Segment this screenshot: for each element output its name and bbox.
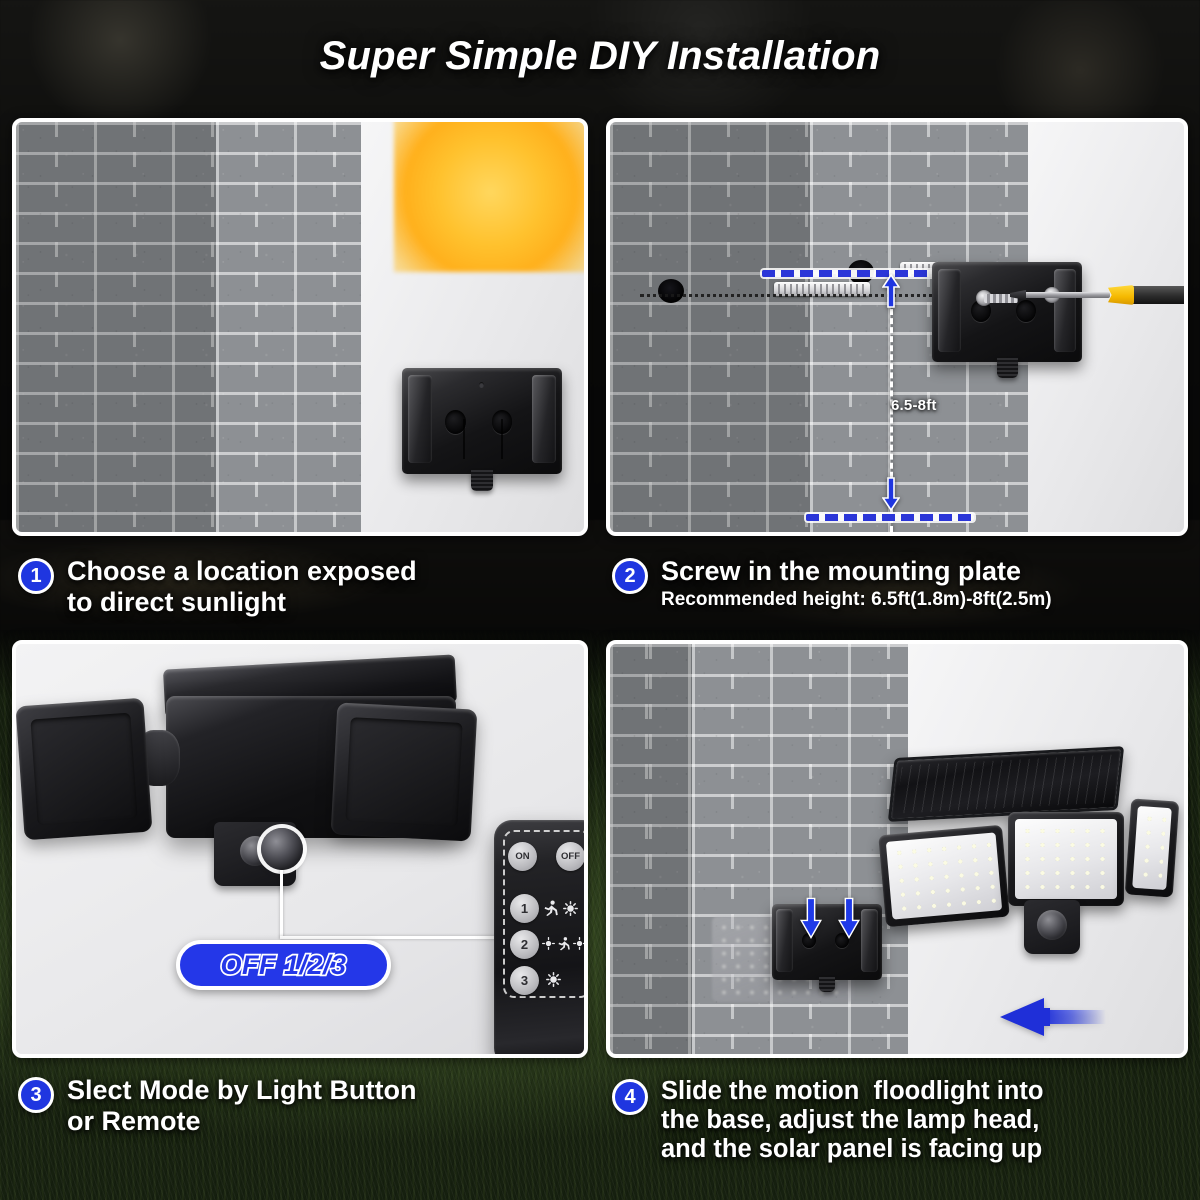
step-1-line-2: to direct sunlight [67, 587, 417, 618]
arrow-down-icon-right [838, 896, 860, 940]
brick-scene [610, 644, 1184, 1054]
brick-wall-left-face [610, 122, 810, 532]
sun-icon [546, 972, 561, 987]
bracket-rail-right [532, 375, 556, 463]
panel-screw-mounting-plate: 6.5-8ft [606, 118, 1188, 536]
brick-wall-right-face [216, 122, 361, 532]
bracket-rail-left [408, 375, 432, 463]
remote-mode-2-button[interactable]: 2 [510, 930, 539, 959]
step-2-subtext: Recommended height: 6.5ft(1.8m)-8ft(2.5m… [661, 589, 1052, 612]
led-grid-center [1020, 824, 1112, 894]
step-2-caption: 2 Screw in the mounting plate Recommende… [612, 556, 1188, 612]
step-3-caption: 3 Slect Mode by Light Button or Remote [18, 1075, 588, 1137]
led-grid-right [1138, 811, 1167, 884]
step-2-line-1: Screw in the mounting plate [661, 556, 1052, 587]
arrow-down-icon [882, 477, 900, 511]
bracket-release-tab [471, 470, 493, 491]
page-title: Super Simple DIY Installation [0, 34, 1200, 79]
infographic-root: Super Simple DIY Installation [0, 0, 1200, 1200]
step-1-line-1: Choose a location exposed [67, 556, 417, 587]
bracket-rail-right [861, 909, 878, 972]
step-3-line-2: or Remote [67, 1106, 416, 1137]
remote-mode-3-icons [546, 972, 561, 987]
brick-scene: 6.5-8ft [610, 122, 1184, 532]
step-4-line-1: Slide the motion floodlight into [661, 1077, 1043, 1106]
leader-line-vertical [280, 870, 283, 938]
remote-control[interactable]: ON OFF 1 2 [494, 820, 588, 1058]
screwdriver-grip [1108, 285, 1134, 305]
led-face-center [1015, 819, 1117, 899]
remote-mode-3-button[interactable]: 3 [510, 966, 539, 995]
brick-wall-left-face [610, 644, 692, 1054]
sun-icon [563, 901, 578, 916]
led-grid-left [891, 838, 997, 914]
mounted-bracket [772, 904, 882, 980]
step-3-number: 3 [18, 1077, 54, 1113]
remote-mode-2-icons [542, 936, 586, 951]
bracket-release-tab [819, 977, 834, 992]
solar-panel [888, 746, 1124, 822]
brick-scene [16, 122, 584, 532]
remote-off-button[interactable]: OFF [556, 842, 585, 871]
step-3-line-1: Slect Mode by Light Button [67, 1075, 416, 1106]
bracket-slot-right [501, 419, 503, 459]
sun-icon [542, 937, 555, 950]
sun-icon [573, 937, 586, 950]
step-1-number: 1 [18, 558, 54, 594]
drill-hole-left [658, 279, 684, 303]
step-4-text: Slide the motion floodlight into the bas… [661, 1077, 1043, 1164]
step-4-line-2: the base, adjust the lamp head, [661, 1106, 1043, 1135]
screwdriver [952, 286, 1188, 304]
mode-badge: OFF 1/2/3 [176, 940, 391, 990]
motion-icon [558, 936, 570, 951]
arrow-up-icon [882, 274, 900, 308]
bracket-rail-left [938, 269, 961, 352]
mounting-bracket [402, 368, 562, 474]
mounting-bracket [932, 262, 1082, 362]
step-2-number: 2 [612, 558, 648, 594]
step-2-text: Screw in the mounting plate Recommended … [661, 556, 1052, 612]
step-1-text: Choose a location exposed to direct sunl… [67, 556, 417, 618]
brick-wall-left-face [16, 122, 216, 532]
bracket-slot-left [463, 419, 465, 459]
screwdriver-tip [1010, 290, 1026, 300]
arrow-down-icon-left [800, 896, 822, 940]
panel-slide-floodlight [606, 640, 1188, 1058]
led-head-left [878, 825, 1010, 927]
mode-badge-label: OFF 1/2/3 [220, 950, 346, 981]
bracket-rail-right [1054, 269, 1077, 352]
motion-icon [544, 900, 558, 916]
floodlight-left-head [15, 698, 152, 841]
led-face-left [886, 832, 1002, 919]
screwdriver-shaft [1024, 292, 1110, 298]
arrow-left-icon [998, 996, 1106, 1038]
height-measure-label: 6.5-8ft [891, 397, 937, 414]
led-head-center [1008, 812, 1124, 906]
solar-floodlight [882, 752, 1182, 982]
panel-choose-location [12, 118, 588, 536]
led-face-right [1132, 806, 1172, 890]
screwdriver-handle [1130, 286, 1188, 304]
remote-on-button[interactable]: ON [508, 842, 537, 871]
motion-sensor [1024, 900, 1080, 954]
panel-select-mode: OFF 1/2/3 ON OFF 1 [12, 640, 588, 1058]
step-4-caption: 4 Slide the motion floodlight into the b… [612, 1077, 1192, 1164]
step-3-text: Slect Mode by Light Button or Remote [67, 1075, 416, 1137]
bracket-release-tab [997, 358, 1018, 378]
floodlight-right-head [331, 702, 478, 841]
floor-dashed-line [806, 514, 974, 521]
remote-mode-1-icons [544, 900, 578, 916]
bracket-rail-left [776, 909, 793, 972]
led-head-right [1125, 798, 1180, 897]
step-1-caption: 1 Choose a location exposed to direct su… [18, 556, 588, 618]
remote-mode-1-button[interactable]: 1 [510, 894, 539, 923]
step-4-line-3: and the solar panel is facing up [661, 1135, 1043, 1164]
step-4-number: 4 [612, 1079, 648, 1115]
light-mode-button[interactable] [261, 828, 303, 870]
